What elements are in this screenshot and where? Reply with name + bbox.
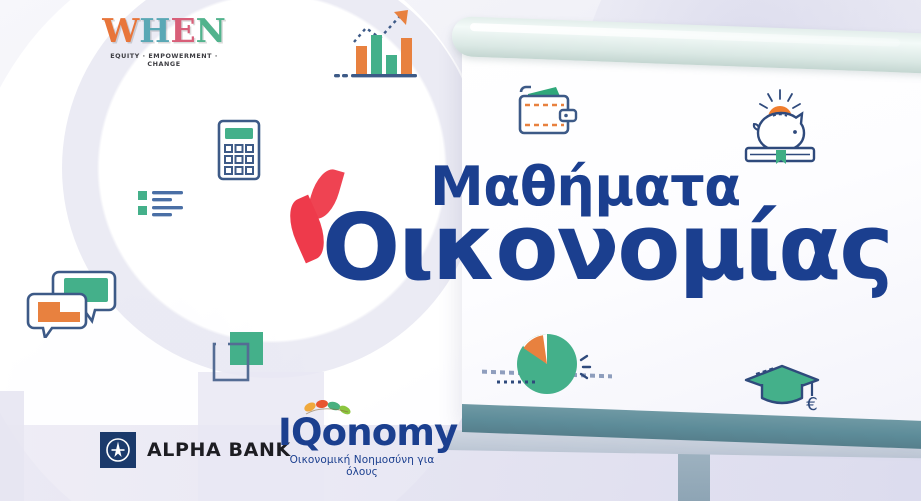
alpha-bank-name: ALPHA BANK (147, 439, 291, 461)
when-tagline: EQUITY · EMPOWERMENT · CHANGE (100, 52, 228, 68)
piggy-bank-icon (740, 88, 820, 170)
iqonomy-leaves-icon (300, 398, 360, 420)
when-letter-n: N (196, 14, 226, 47)
when-letter-e: E (170, 14, 195, 47)
when-letter-w: W (102, 14, 139, 47)
list-icon (136, 186, 186, 224)
background-left-band (0, 391, 24, 501)
when-logo: W H E N EQUITY · EMPOWERMENT · CHANGE (100, 14, 228, 68)
pie-chart-icon (495, 320, 605, 404)
title-line-two: Οικονομίας (322, 202, 892, 294)
iqonomy-tagline: Οικονομική Νοημοσύνη για όλους (278, 454, 446, 478)
overlapping-squares-icon (208, 328, 270, 392)
calculator-icon (216, 118, 262, 186)
poster-canvas: W H E N EQUITY · EMPOWERMENT · CHANGE Μα… (0, 0, 921, 501)
wallet-icon (512, 84, 582, 148)
graduation-cap-euro-icon: € (744, 360, 824, 422)
when-wordmark: W H E N (100, 14, 228, 47)
alpha-bank-logo: ALPHA BANK (100, 432, 291, 468)
alpha-bank-mark-icon (100, 432, 136, 468)
iqonomy-logo: IQonomy Οικονομική Νοημοσύνη για όλους (278, 414, 446, 478)
screen-stand-leg (678, 448, 710, 501)
svg-text:€: € (806, 394, 817, 415)
chat-bubbles-icon (26, 266, 120, 342)
bar-chart-icon (330, 4, 425, 88)
when-letter-h: H (139, 14, 170, 47)
